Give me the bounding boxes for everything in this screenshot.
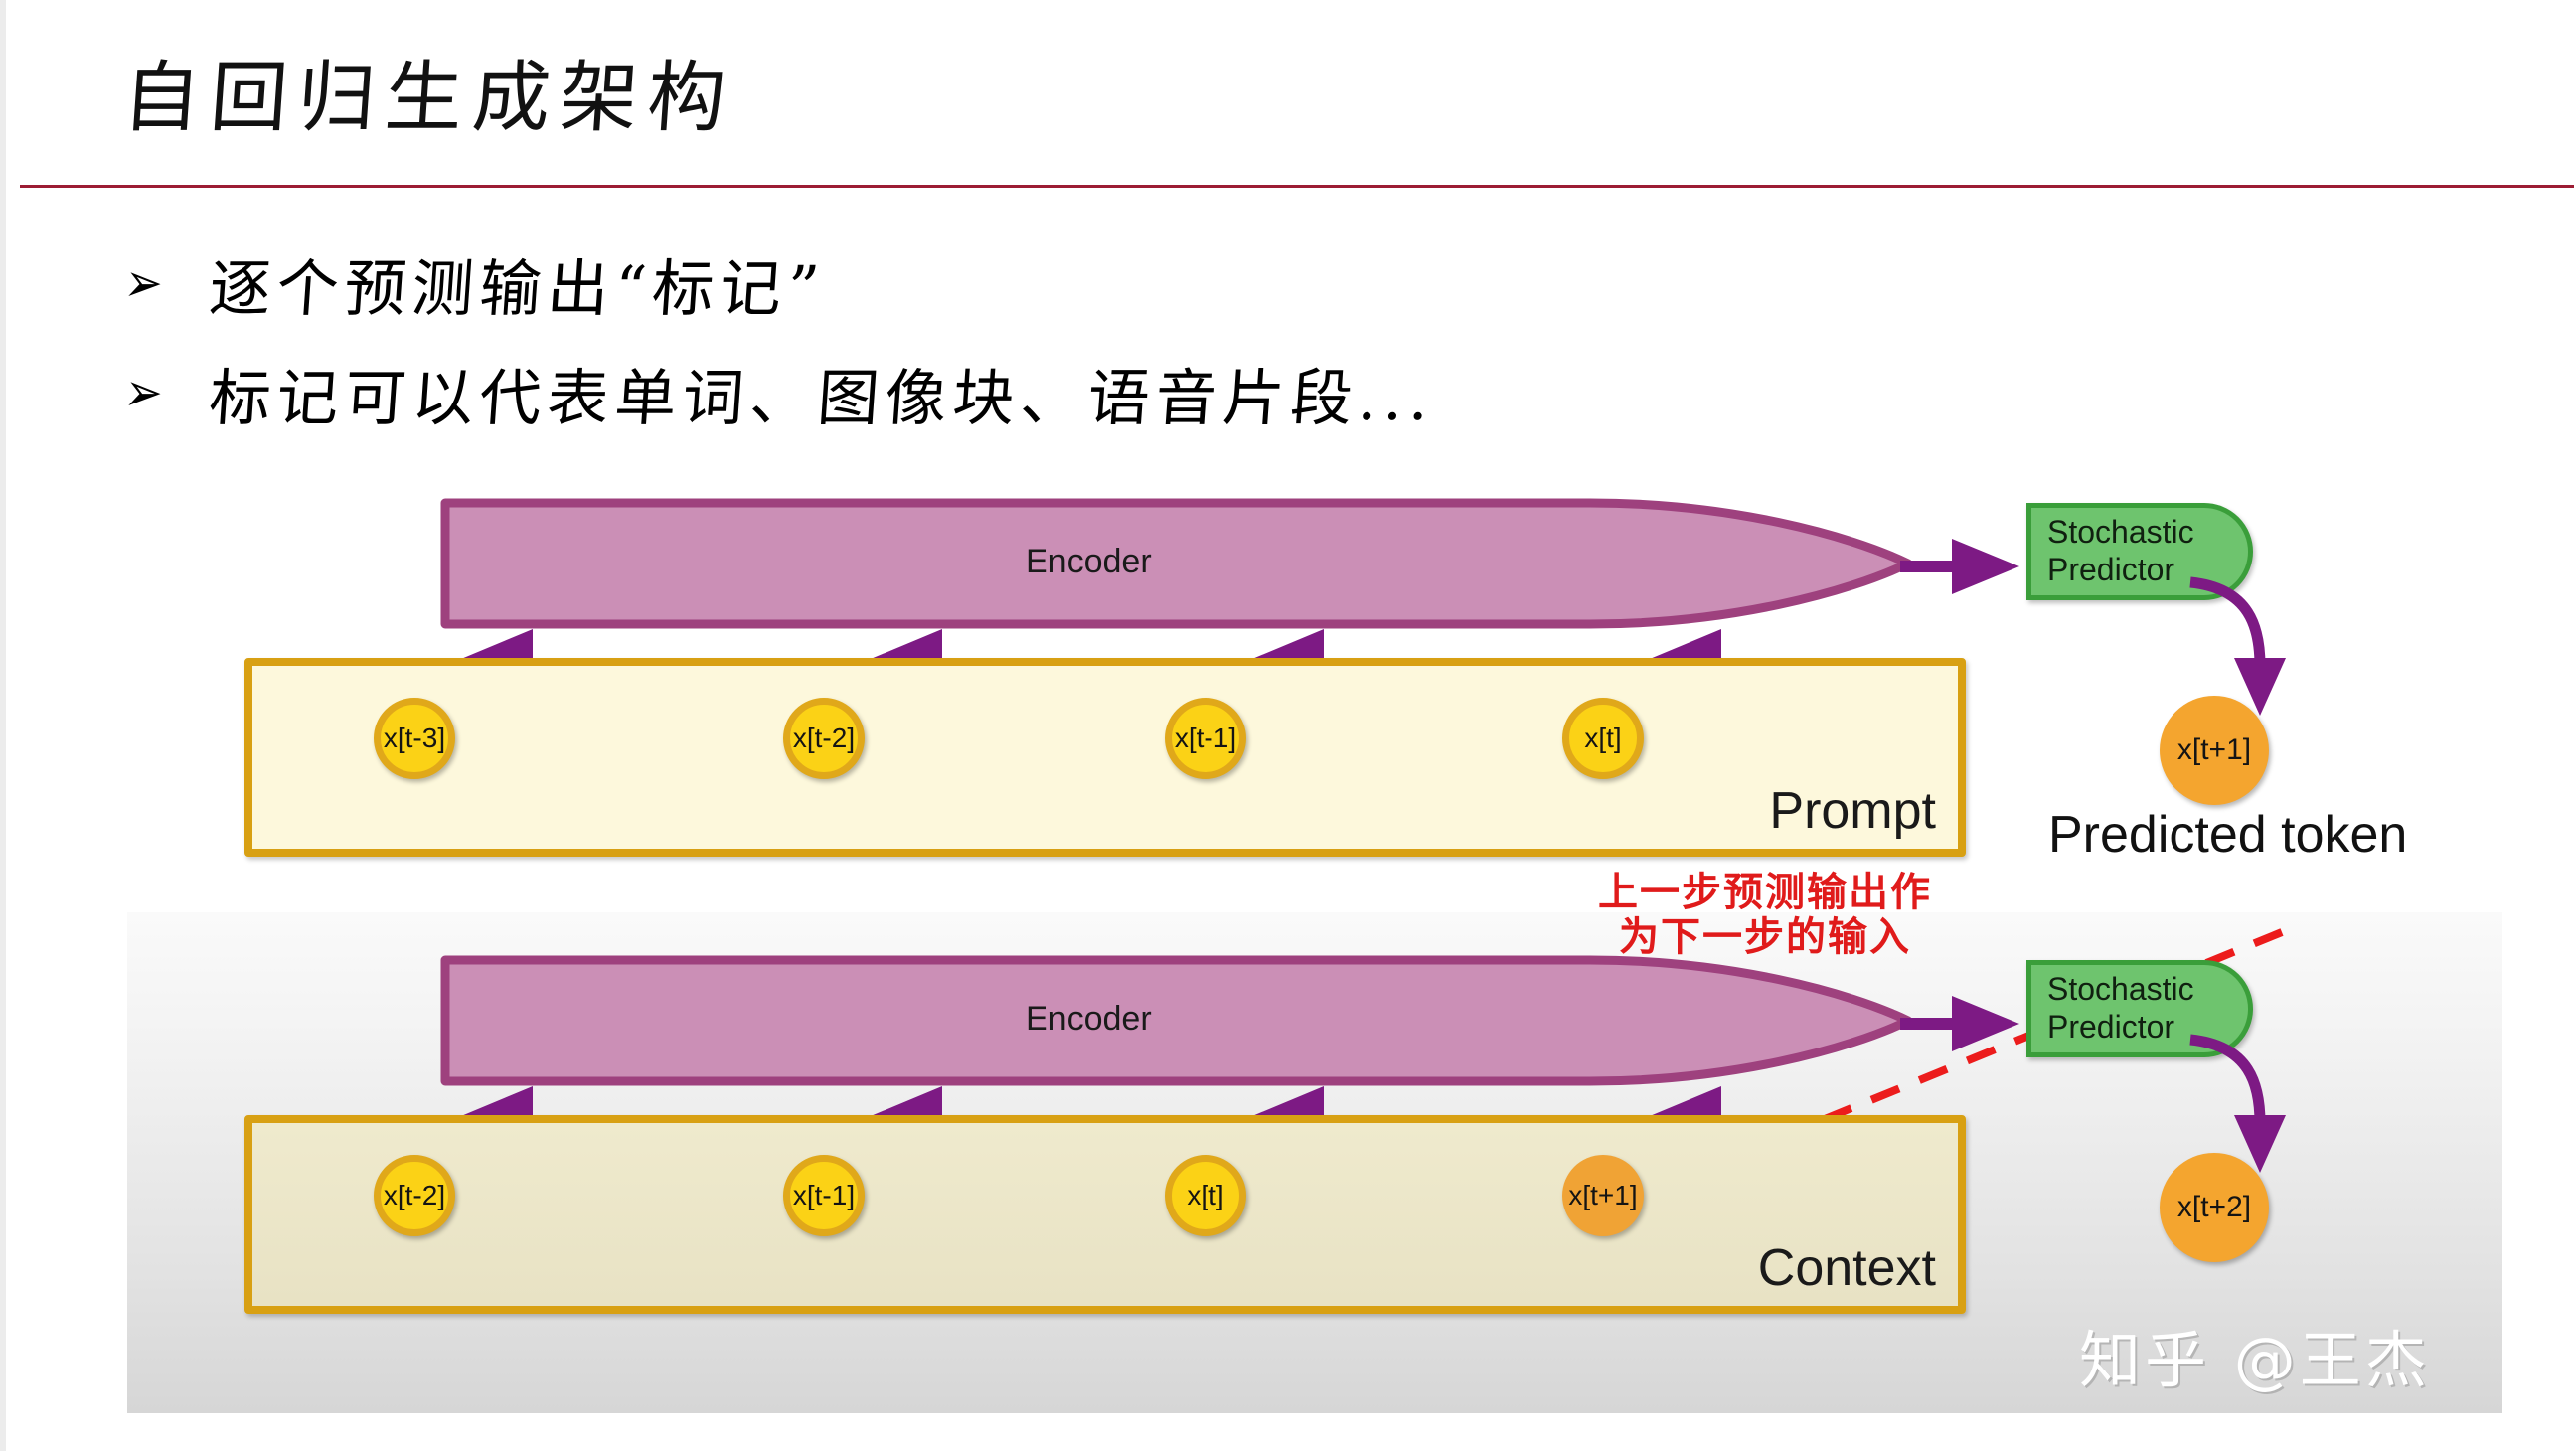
token-chip[interactable]: x[t-1] bbox=[783, 1155, 865, 1236]
token-chip-fed-back[interactable]: x[t+1] bbox=[1562, 1155, 1644, 1236]
predicted-token-chip-bottom[interactable]: x[t+2] bbox=[2160, 1153, 2269, 1262]
bullet-item-1-label: 逐个预测输出“标记” bbox=[207, 239, 829, 328]
context-label: Context bbox=[1758, 1238, 1936, 1298]
slide-canvas: 自回归生成架构 ➢逐个预测输出“标记” ➢标记可以代表单词、图像块、语音片段..… bbox=[0, 0, 2576, 1451]
feedback-annotation-line-1: 上一步预测输出作 bbox=[1556, 871, 1974, 915]
token-chip[interactable]: x[t-2] bbox=[374, 1155, 455, 1236]
token-chip[interactable]: x[t-1] bbox=[1165, 698, 1246, 779]
token-chip[interactable]: x[t-3] bbox=[374, 698, 455, 779]
watermark: 知乎 @王杰 bbox=[2079, 1310, 2431, 1399]
bullet-item-1: ➢逐个预测输出“标记” bbox=[121, 239, 826, 328]
bullet-item-2: ➢标记可以代表单词、图像块、语音片段... bbox=[121, 348, 1435, 437]
bullet-arrow-icon: ➢ bbox=[122, 366, 165, 419]
predicted-token-chip[interactable]: x[t+1] bbox=[2160, 696, 2269, 805]
token-chip[interactable]: x[t-2] bbox=[783, 698, 865, 779]
title-divider bbox=[20, 185, 2574, 188]
encoder-label-top: Encoder bbox=[1026, 543, 1152, 581]
page-title: 自回归生成架构 bbox=[119, 36, 739, 147]
predictor-line-1: Stochastic bbox=[2047, 514, 2248, 552]
bullet-arrow-icon: ➢ bbox=[122, 256, 165, 310]
prompt-sequence-box: Prompt bbox=[244, 658, 1966, 857]
encoder-label-bottom: Encoder bbox=[1026, 1000, 1152, 1039]
predictor-line-1: Stochastic bbox=[2047, 971, 2248, 1009]
bullet-item-2-label: 标记可以代表单词、图像块、语音片段... bbox=[207, 348, 1438, 437]
token-chip[interactable]: x[t] bbox=[1165, 1155, 1246, 1236]
prompt-label: Prompt bbox=[1769, 781, 1936, 841]
context-sequence-box: Context bbox=[244, 1115, 1966, 1314]
predicted-token-caption: Predicted token bbox=[2048, 805, 2407, 865]
token-chip[interactable]: x[t] bbox=[1562, 698, 1644, 779]
feedback-annotation: 上一步预测输出作 为下一步的输入 bbox=[1556, 871, 1974, 960]
